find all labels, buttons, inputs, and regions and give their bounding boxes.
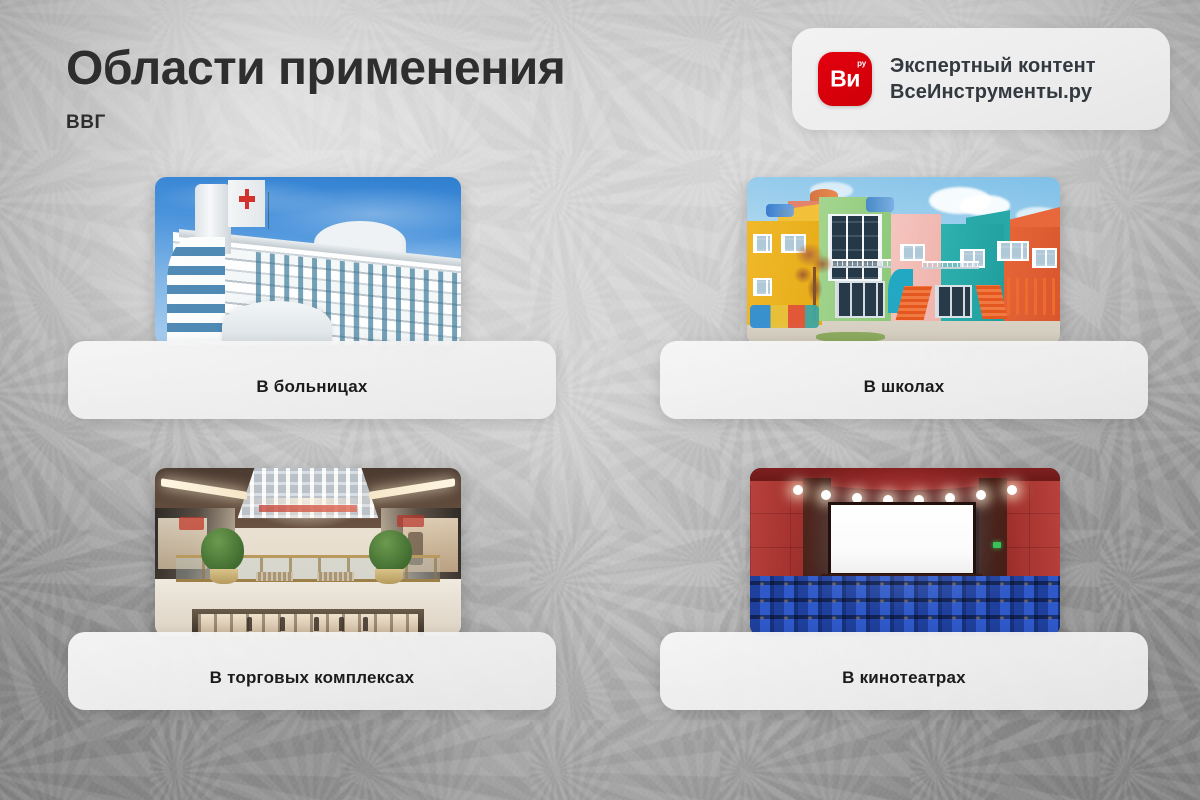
mall-scene <box>155 468 461 636</box>
logo-superscript: ру <box>857 59 866 68</box>
mall-photo <box>155 468 461 636</box>
potted-plant <box>201 528 244 572</box>
school-balcony-rail <box>922 261 978 269</box>
hospital-antenna <box>268 192 269 229</box>
vseinstrumenty-logo-icon: Ви ру <box>818 52 872 106</box>
school-entrance-door <box>935 285 973 319</box>
school-photo <box>747 177 1060 345</box>
cinema-photo <box>750 468 1060 636</box>
school-water-tank <box>866 197 894 212</box>
slide-canvas: Области применения ВВГ Ви ру Экспертный … <box>0 0 1200 800</box>
planter-pot <box>375 569 403 584</box>
playground-equipment <box>750 305 819 329</box>
school-window <box>900 244 925 261</box>
hospital-scene <box>155 177 461 345</box>
brand-badge: Ви ру Экспертный контент ВсеИнструменты.… <box>792 28 1170 130</box>
school-window <box>1032 248 1057 268</box>
potted-plant <box>369 530 412 572</box>
school-window <box>753 234 772 252</box>
shopper <box>247 617 252 631</box>
planter-pot <box>210 569 238 584</box>
page-title: Области применения <box>66 44 565 94</box>
shop-sign <box>179 517 203 530</box>
red-cross-icon <box>239 189 255 209</box>
page-subtitle: ВВГ <box>66 112 106 134</box>
shop-sign <box>397 515 425 527</box>
label-panel-school: В школах <box>660 341 1148 419</box>
school-scene <box>747 177 1060 345</box>
mall-bench <box>256 572 293 580</box>
brand-badge-text: Экспертный контент ВсеИнструменты.ру <box>890 55 1096 104</box>
school-window <box>753 278 772 296</box>
cinema-scene <box>750 468 1060 636</box>
card-label-mall: В торговых комплексах <box>210 654 415 688</box>
label-panel-hospital: В больницах <box>68 341 556 419</box>
label-panel-cinema: В кинотеатрах <box>660 632 1148 710</box>
school-entrance-door <box>835 281 885 318</box>
hospital-entrance-canopy <box>222 301 332 345</box>
logo-monogram: Ви <box>818 66 872 93</box>
shopper <box>363 617 368 631</box>
brand-tagline: Экспертный контент <box>890 55 1096 78</box>
shopper <box>314 617 319 631</box>
card-label-hospital: В больницах <box>256 363 367 397</box>
school-water-tank <box>766 204 794 217</box>
school-window <box>997 241 1028 261</box>
shopper <box>339 617 344 631</box>
card-label-school: В школах <box>864 363 945 397</box>
mall-skylight-glow <box>247 498 369 528</box>
hospital-photo <box>155 177 461 345</box>
brand-name: ВсеИнструменты.ру <box>890 81 1096 104</box>
mall-red-beam <box>259 505 357 512</box>
mall-bench <box>317 572 354 580</box>
label-panel-mall: В торговых комплексах <box>68 632 556 710</box>
shopper <box>280 617 285 631</box>
exit-sign-icon <box>993 542 1001 548</box>
hospital-curved-wing <box>167 237 225 341</box>
playground-railing <box>1007 278 1057 315</box>
card-label-cinema: В кинотеатрах <box>842 654 966 688</box>
cinema-screen <box>828 502 977 576</box>
cinema-audience-heads <box>750 576 1060 636</box>
